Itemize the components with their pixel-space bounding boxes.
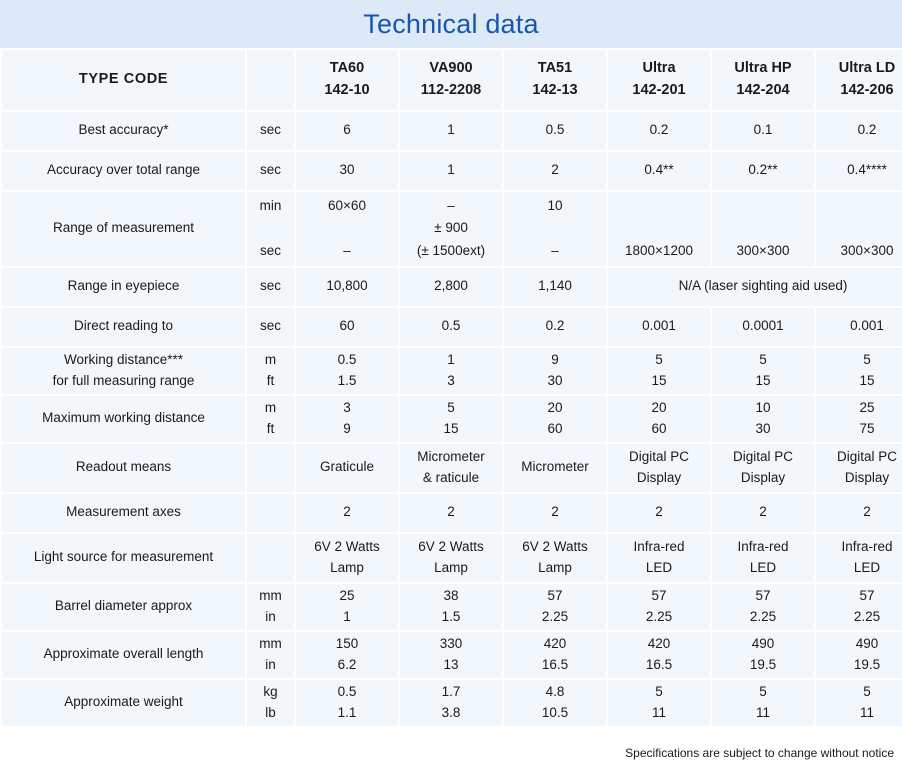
row-label-line1: Working distance*** — [2, 350, 245, 370]
header-name: Ultra HP — [712, 58, 814, 80]
header-unit-cell — [247, 50, 294, 110]
row-label: Range in eyepiece — [2, 268, 245, 306]
table-row-overall-length: Approximate overall length mm in 150 6.2 — [2, 632, 902, 678]
cell-top — [608, 198, 710, 215]
header-name: TA51 — [504, 58, 606, 80]
cell-bottom: 2.25 — [608, 607, 710, 627]
row-label: Approximate overall length — [2, 632, 245, 678]
cell-value-stack: 57 2.25 — [816, 584, 902, 630]
cell-value-stack: 6V 2 Watts Lamp — [504, 534, 606, 582]
cell-top: 57 — [816, 586, 902, 606]
cell-value-stack: Micrometer — [504, 444, 606, 492]
cell-value-stack: 5 15 — [712, 348, 814, 394]
header-name: VA900 — [400, 58, 502, 80]
table-row-direct-reading-to: Direct reading to sec 60 0.5 0.2 0.001 0… — [2, 308, 902, 346]
cell-top: 420 — [504, 634, 606, 654]
cell-top: 5 — [712, 682, 814, 702]
unit-top: mm — [247, 586, 294, 606]
cell-line1: Digital PC — [608, 447, 710, 467]
cell-value-stack: 1800×1200 — [608, 192, 710, 266]
header-col-ultra-hp: Ultra HP 142-204 — [712, 50, 814, 110]
cell-value: 0.1 — [712, 112, 814, 150]
cell-bottom: 11 — [608, 703, 710, 723]
cell-top: 5 — [400, 398, 502, 418]
cell-value: 0.0001 — [712, 308, 814, 346]
cell-value-stack: 20 60 — [504, 396, 606, 442]
cell-top: 10 — [712, 398, 814, 418]
cell-bottom: 2.25 — [504, 607, 606, 627]
row-label: Accuracy over total range — [2, 152, 245, 190]
cell-line2: Lamp — [504, 558, 606, 578]
row-unit-stack: mm in — [247, 632, 294, 678]
cell-value-stack: 0.5 1.5 — [296, 348, 398, 394]
row-unit-stack: kg lb — [247, 680, 294, 726]
header-code: 142-10 — [296, 80, 398, 102]
cell-line2: LED — [712, 558, 814, 578]
row-label: Measurement axes — [2, 494, 245, 532]
cell-value-stack: Infra-red LED — [608, 534, 710, 582]
cell-value-stack: 6V 2 Watts Lamp — [296, 534, 398, 582]
cell-value: 2 — [296, 494, 398, 532]
cell-top — [816, 198, 902, 215]
cell-line1: Digital PC — [816, 447, 902, 467]
cell-value: 2 — [504, 494, 606, 532]
row-unit — [247, 444, 294, 492]
header-col-va900: VA900 112-2208 — [400, 50, 502, 110]
cell-line2: Display — [712, 468, 814, 488]
cell-value: 2 — [608, 494, 710, 532]
cell-value: 0.4**** — [816, 152, 902, 190]
header-col-ta60: TA60 142-10 — [296, 50, 398, 110]
cell-bottom: 13 — [400, 655, 502, 675]
cell-bottom: 11 — [816, 703, 902, 723]
cell-value: 2,800 — [400, 268, 502, 306]
cell-value: 30 — [296, 152, 398, 190]
table-row-range-in-eyepiece: Range in eyepiece sec 10,800 2,800 1,140… — [2, 268, 902, 306]
cell-value-stack: 1 3 — [400, 348, 502, 394]
cell-bottom: 19.5 — [712, 655, 814, 675]
row-unit: sec — [247, 112, 294, 150]
cell-top: 5 — [816, 350, 902, 370]
cell-bottom: – — [504, 243, 606, 260]
header-code: 142-204 — [712, 80, 814, 102]
cell-bottom: 1.5 — [296, 371, 398, 391]
row-unit: sec — [247, 152, 294, 190]
cell-line2: Display — [816, 468, 902, 488]
table-row-range-of-measurement: Range of measurement min sec 60×60 – — [2, 192, 902, 266]
row-unit-stack: min sec — [247, 192, 294, 266]
cell-line1: 6V 2 Watts — [400, 537, 502, 557]
table-row-best-accuracy: Best accuracy* sec 6 1 0.5 0.2 0.1 0.2 — [2, 112, 902, 150]
cell-value-stack: 150 6.2 — [296, 632, 398, 678]
row-unit — [247, 534, 294, 582]
cell-value-stack: 1.7 3.8 — [400, 680, 502, 726]
cell-top: 4.8 — [504, 682, 606, 702]
cell-value: 0.2** — [712, 152, 814, 190]
cell-bottom: 60 — [504, 419, 606, 439]
cell-top: 20 — [504, 398, 606, 418]
cell-value-stack: 5 15 — [816, 348, 902, 394]
cell-top: 5 — [712, 350, 814, 370]
row-label: Light source for measurement — [2, 534, 245, 582]
cell-top: 20 — [608, 398, 710, 418]
cell-line2: Display — [608, 468, 710, 488]
cell-bottom: 2.25 — [816, 607, 902, 627]
cell-bottom: 3.8 — [400, 703, 502, 723]
cell-top: 9 — [504, 350, 606, 370]
cell-value-stack: 420 16.5 — [608, 632, 710, 678]
cell-value: 0.2 — [504, 308, 606, 346]
unit-bottom: in — [247, 607, 294, 627]
cell-top: 25 — [816, 398, 902, 418]
cell-value-stack: 490 19.5 — [712, 632, 814, 678]
cell-line2: Lamp — [400, 558, 502, 578]
unit-top: min — [247, 198, 294, 215]
cell-bottom: 6.2 — [296, 655, 398, 675]
cell-line2: LED — [608, 558, 710, 578]
cell-bottom: 300×300 — [816, 243, 902, 260]
cell-value: 2 — [400, 494, 502, 532]
cell-bottom: 15 — [816, 371, 902, 391]
table-row-working-distance: Working distance*** for full measuring r… — [2, 348, 902, 394]
row-label: Direct reading to — [2, 308, 245, 346]
header-code: 142-206 — [816, 80, 902, 102]
cell-value-stack: Digital PC Display — [712, 444, 814, 492]
cell-value: 0.5 — [400, 308, 502, 346]
cell-mid: ± 900 — [400, 220, 502, 237]
cell-value-stack: 6V 2 Watts Lamp — [400, 534, 502, 582]
cell-line1: 6V 2 Watts — [296, 537, 398, 557]
cell-value-stack: Infra-red LED — [816, 534, 902, 582]
cell-value: 10,800 — [296, 268, 398, 306]
header-code: 142-201 — [608, 80, 710, 102]
cell-value: 0.2 — [816, 112, 902, 150]
cell-value-stack: 3 9 — [296, 396, 398, 442]
cell-value: 60 — [296, 308, 398, 346]
technical-data-sheet: Technical data TYPE CODE TA60 142-10 VA9… — [0, 0, 902, 755]
unit-bottom: in — [247, 655, 294, 675]
cell-value-stack: 10 30 — [712, 396, 814, 442]
cell-bottom: 60 — [608, 419, 710, 439]
cell-value-stack: 57 2.25 — [504, 584, 606, 630]
cell-value: 0.5 — [504, 112, 606, 150]
unit-top: m — [247, 398, 294, 418]
cell-bottom: 1.5 — [400, 607, 502, 627]
cell-top: 0.5 — [296, 682, 398, 702]
cell-bottom: 10.5 — [504, 703, 606, 723]
cell-line2: Lamp — [296, 558, 398, 578]
table-row-weight: Approximate weight kg lb 0.5 1.1 1.7 — [2, 680, 902, 726]
cell-value-stack: 5 11 — [608, 680, 710, 726]
cell-mid — [816, 220, 902, 237]
row-unit-stack: m ft — [247, 348, 294, 394]
cell-value-stack: – ± 900 (± 1500ext) — [400, 192, 502, 266]
cell-bottom: 75 — [816, 419, 902, 439]
cell-bottom: 3 — [400, 371, 502, 391]
cell-bottom: 1 — [296, 607, 398, 627]
cell-value: 0.2 — [608, 112, 710, 150]
cell-top: 57 — [504, 586, 606, 606]
cell-top: 150 — [296, 634, 398, 654]
table-row-accuracy-total-range: Accuracy over total range sec 30 1 2 0.4… — [2, 152, 902, 190]
unit-bottom: ft — [247, 419, 294, 439]
cell-bottom: (± 1500ext) — [400, 243, 502, 260]
cell-bottom: 9 — [296, 419, 398, 439]
cell-value: 1 — [400, 112, 502, 150]
cell-line1: 6V 2 Watts — [504, 537, 606, 557]
cell-value-stack: 57 2.25 — [712, 584, 814, 630]
cell-value-stack: 5 11 — [712, 680, 814, 726]
cell-value: 2 — [504, 152, 606, 190]
cell-bottom: 19.5 — [816, 655, 902, 675]
cell-value: 0.001 — [608, 308, 710, 346]
cell-value: 1 — [400, 152, 502, 190]
cell-value-stack: Graticule — [296, 444, 398, 492]
cell-value-stack: 25 1 — [296, 584, 398, 630]
cell-line1: Infra-red — [712, 537, 814, 557]
row-label: Best accuracy* — [2, 112, 245, 150]
cell-line1: Infra-red — [816, 537, 902, 557]
cell-value: 6 — [296, 112, 398, 150]
cell-top: 38 — [400, 586, 502, 606]
cell-bottom: 16.5 — [504, 655, 606, 675]
row-unit: sec — [247, 308, 294, 346]
cell-value-stack: Infra-red LED — [712, 534, 814, 582]
cell-bottom: 2.25 — [712, 607, 814, 627]
cell-value-stack: 490 19.5 — [816, 632, 902, 678]
row-unit-stack: mm in — [247, 584, 294, 630]
cell-value-stack: 20 60 — [608, 396, 710, 442]
cell-line1: Micrometer — [521, 459, 589, 474]
row-label: Range of measurement — [2, 192, 245, 266]
header-code: 112-2208 — [400, 80, 502, 102]
cell-top: 1 — [400, 350, 502, 370]
cell-value-stack: Micrometer & raticule — [400, 444, 502, 492]
header-name: TA60 — [296, 58, 398, 80]
cell-line2: LED — [816, 558, 902, 578]
unit-mid — [247, 220, 294, 237]
header-code: 142-13 — [504, 80, 606, 102]
cell-bottom: 15 — [608, 371, 710, 391]
cell-top: 25 — [296, 586, 398, 606]
cell-bottom: 1800×1200 — [608, 243, 710, 260]
cell-top: 0.5 — [296, 350, 398, 370]
row-unit-stack: m ft — [247, 396, 294, 442]
cell-value-stack: Digital PC Display — [816, 444, 902, 492]
unit-top: mm — [247, 634, 294, 654]
cell-top: – — [400, 198, 502, 215]
cell-value-stack: 9 30 — [504, 348, 606, 394]
cell-value-stack: 330 13 — [400, 632, 502, 678]
row-unit — [247, 494, 294, 532]
cell-top: 330 — [400, 634, 502, 654]
table-row-light-source: Light source for measurement 6V 2 Watts … — [2, 534, 902, 582]
cell-value-stack: 38 1.5 — [400, 584, 502, 630]
cell-line1: Micrometer — [400, 447, 502, 467]
header-col-ultra-ld: Ultra LD 142-206 — [816, 50, 902, 110]
cell-value-stack: 5 11 — [816, 680, 902, 726]
cell-value-stack: 60×60 – — [296, 192, 398, 266]
cell-mid — [712, 220, 814, 237]
cell-bottom: 11 — [712, 703, 814, 723]
cell-bottom: 30 — [504, 371, 606, 391]
unit-top: kg — [247, 682, 294, 702]
cell-top: 57 — [712, 586, 814, 606]
cell-value: 2 — [816, 494, 902, 532]
cell-value: 0.4** — [608, 152, 710, 190]
header-type-code: TYPE CODE — [2, 50, 245, 110]
table-row-maximum-working-distance: Maximum working distance m ft 3 9 5 — [2, 396, 902, 442]
cell-value-stack: 25 75 — [816, 396, 902, 442]
page-title: Technical data — [363, 9, 538, 40]
cell-bottom: 15 — [400, 419, 502, 439]
cell-bottom: 300×300 — [712, 243, 814, 260]
header-name: Ultra LD — [816, 58, 902, 80]
cell-line2: & raticule — [400, 468, 502, 488]
cell-bottom: 15 — [712, 371, 814, 391]
title-banner: Technical data — [0, 0, 902, 48]
row-label: Readout means — [2, 444, 245, 492]
cell-top: 3 — [296, 398, 398, 418]
header-col-ultra: Ultra 142-201 — [608, 50, 710, 110]
cell-value-stack: Digital PC Display — [608, 444, 710, 492]
cell-value-stack: 57 2.25 — [608, 584, 710, 630]
cell-top: 490 — [816, 634, 902, 654]
unit-bottom: lb — [247, 703, 294, 723]
technical-data-table: TYPE CODE TA60 142-10 VA900 112-2208 TA5… — [0, 48, 902, 728]
cell-top: 1.7 — [400, 682, 502, 702]
cell-top: 5 — [608, 682, 710, 702]
cell-value-stack: 4.8 10.5 — [504, 680, 606, 726]
cell-top: 10 — [504, 198, 606, 215]
cell-line1: Infra-red — [608, 537, 710, 557]
cell-line1: Digital PC — [712, 447, 814, 467]
cell-bottom: 1.1 — [296, 703, 398, 723]
table-header-row: TYPE CODE TA60 142-10 VA900 112-2208 TA5… — [2, 50, 902, 110]
unit-top: m — [247, 350, 294, 370]
cell-value-stack: 300×300 — [712, 192, 814, 266]
cell-value-stack: 5 15 — [608, 348, 710, 394]
cell-top: 57 — [608, 586, 710, 606]
cell-value: 0.001 — [816, 308, 902, 346]
unit-bottom: ft — [247, 371, 294, 391]
row-label: Barrel diameter approx — [2, 584, 245, 630]
cell-bottom: – — [296, 243, 398, 260]
footnote-text: Specifications are subject to change wit… — [0, 746, 902, 760]
cell-top: 5 — [608, 350, 710, 370]
row-unit: sec — [247, 268, 294, 306]
cell-value-merged: N/A (laser sighting aid used) — [608, 268, 902, 306]
header-col-ta51: TA51 142-13 — [504, 50, 606, 110]
cell-mid — [608, 220, 710, 237]
cell-top: 420 — [608, 634, 710, 654]
cell-line1: Graticule — [320, 459, 374, 474]
header-name: Ultra — [608, 58, 710, 80]
cell-value-stack: 420 16.5 — [504, 632, 606, 678]
cell-mid — [504, 220, 606, 237]
row-label: Approximate weight — [2, 680, 245, 726]
table-row-measurement-axes: Measurement axes 2 2 2 2 2 2 — [2, 494, 902, 532]
cell-value-stack: 300×300 — [816, 192, 902, 266]
row-label-stack: Working distance*** for full measuring r… — [2, 348, 245, 394]
cell-bottom: 16.5 — [608, 655, 710, 675]
cell-mid — [296, 220, 398, 237]
cell-top: 490 — [712, 634, 814, 654]
cell-value: 2 — [712, 494, 814, 532]
cell-top: 60×60 — [296, 198, 398, 215]
cell-value: 1,140 — [504, 268, 606, 306]
cell-top — [712, 198, 814, 215]
cell-bottom: 30 — [712, 419, 814, 439]
cell-value-stack: 10 – — [504, 192, 606, 266]
cell-top: 5 — [816, 682, 902, 702]
row-label: Maximum working distance — [2, 396, 245, 442]
row-label-line2: for full measuring range — [2, 371, 245, 391]
cell-value-stack: 0.5 1.1 — [296, 680, 398, 726]
table-row-readout-means: Readout means Graticule Micrometer & rat… — [2, 444, 902, 492]
table-row-barrel-diameter: Barrel diameter approx mm in 25 1 38 — [2, 584, 902, 630]
unit-bottom: sec — [247, 243, 294, 260]
cell-value-stack: 5 15 — [400, 396, 502, 442]
